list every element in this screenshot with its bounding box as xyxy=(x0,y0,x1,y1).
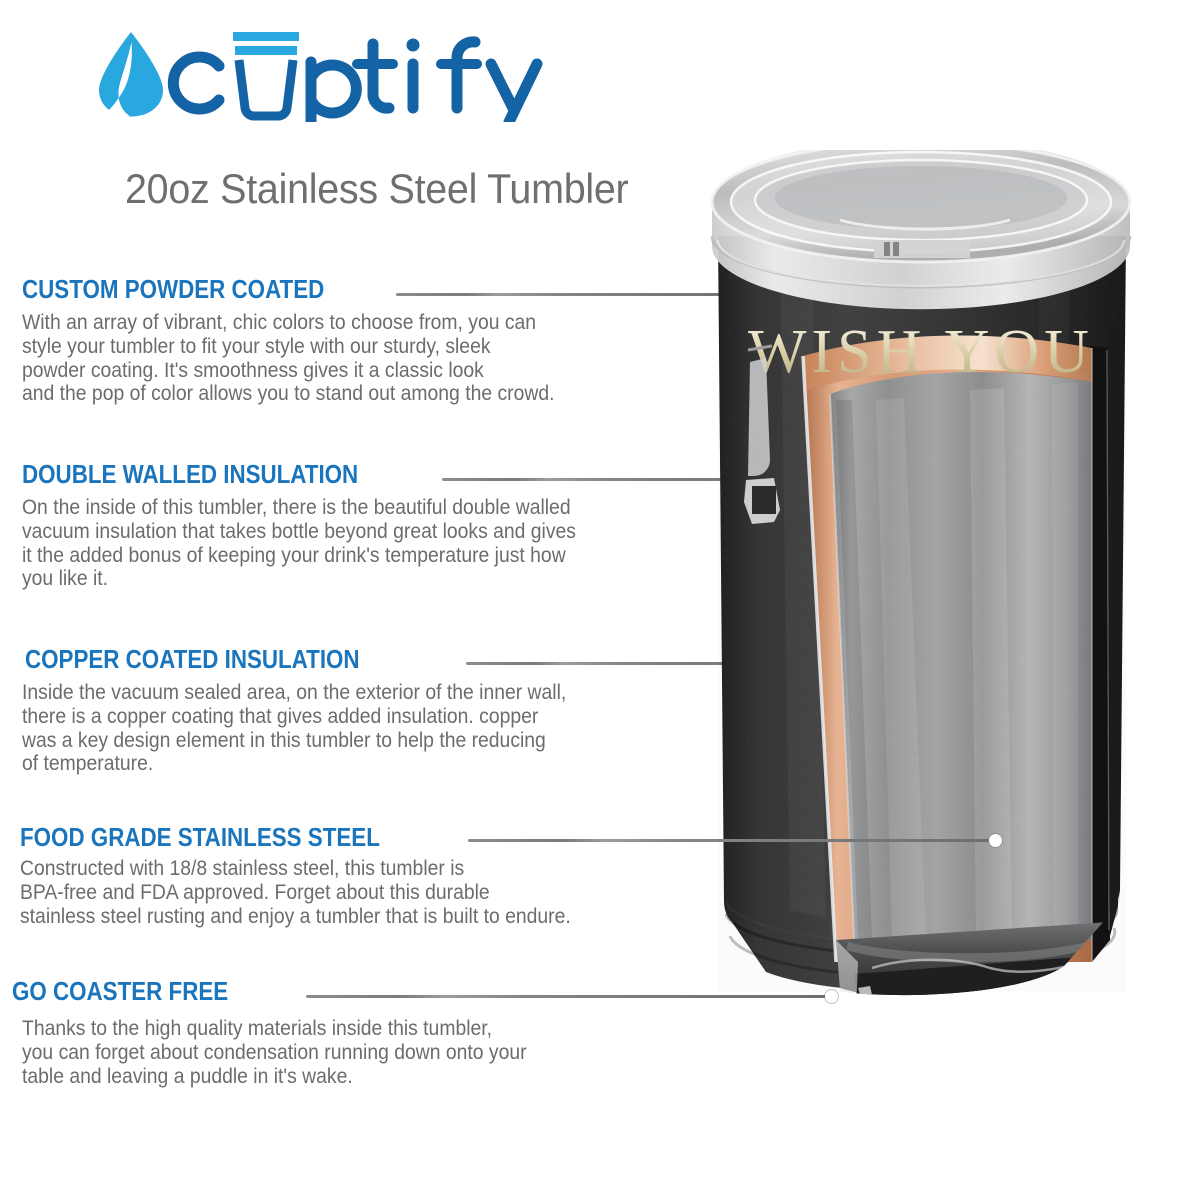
water-droplet-icon xyxy=(95,30,167,118)
feature-body-food-grade-stainless-steel: Constructed with 18/8 stainless steel, t… xyxy=(20,857,650,928)
feature-heading-double-walled-insulation: DOUBLE WALLED INSULATION xyxy=(22,461,624,488)
callout-dot-steel xyxy=(989,834,1002,847)
inner-stainless-steel-wall xyxy=(830,372,1092,940)
engraved-text: WISH YOU xyxy=(748,318,1094,386)
feature-heading-go-coaster-free: GO COASTER FREE xyxy=(12,978,614,1005)
feature-body-double-walled-insulation: On the inside of this tumbler, there is … xyxy=(22,496,652,591)
cutaway-section xyxy=(803,335,1092,962)
tumbler-lid xyxy=(712,150,1130,309)
tumbler-cutaway-svg: WISH YOU xyxy=(640,150,1200,1050)
cup-letter-u-icon xyxy=(233,32,299,116)
right-wall-layers xyxy=(1092,310,1120,962)
svg-text:WISH YOU: WISH YOU xyxy=(748,318,1094,386)
tumbler-product-illustration: WISH YOU xyxy=(640,150,1200,1050)
brand-logo: 20oz Stainless Steel Tumbler xyxy=(95,22,655,147)
callout-line-coaster-free xyxy=(306,994,832,999)
feature-heading-custom-powder-coated: CUSTOM POWDER COATED xyxy=(22,276,624,303)
brand-wordmark xyxy=(161,22,581,122)
callout-dot-coaster-free xyxy=(825,990,838,1003)
feature-heading-copper-coated-insulation: COPPER COATED INSULATION xyxy=(25,646,624,673)
leader-line xyxy=(468,839,996,842)
leader-line xyxy=(306,995,832,998)
page-title: 20oz Stainless Steel Tumbler xyxy=(125,165,628,213)
feature-body-custom-powder-coated: With an array of vibrant, chic colors to… xyxy=(22,311,652,406)
logo-row xyxy=(95,22,655,122)
feature-body-go-coaster-free: Thanks to the high quality materials ins… xyxy=(22,1017,643,1088)
callout-line-steel xyxy=(468,838,996,843)
feature-body-copper-coated-insulation: Inside the vacuum sealed area, on the ex… xyxy=(22,681,652,776)
infographic-canvas: 20oz Stainless Steel Tumbler CUSTOM POWD… xyxy=(0,0,1200,1200)
